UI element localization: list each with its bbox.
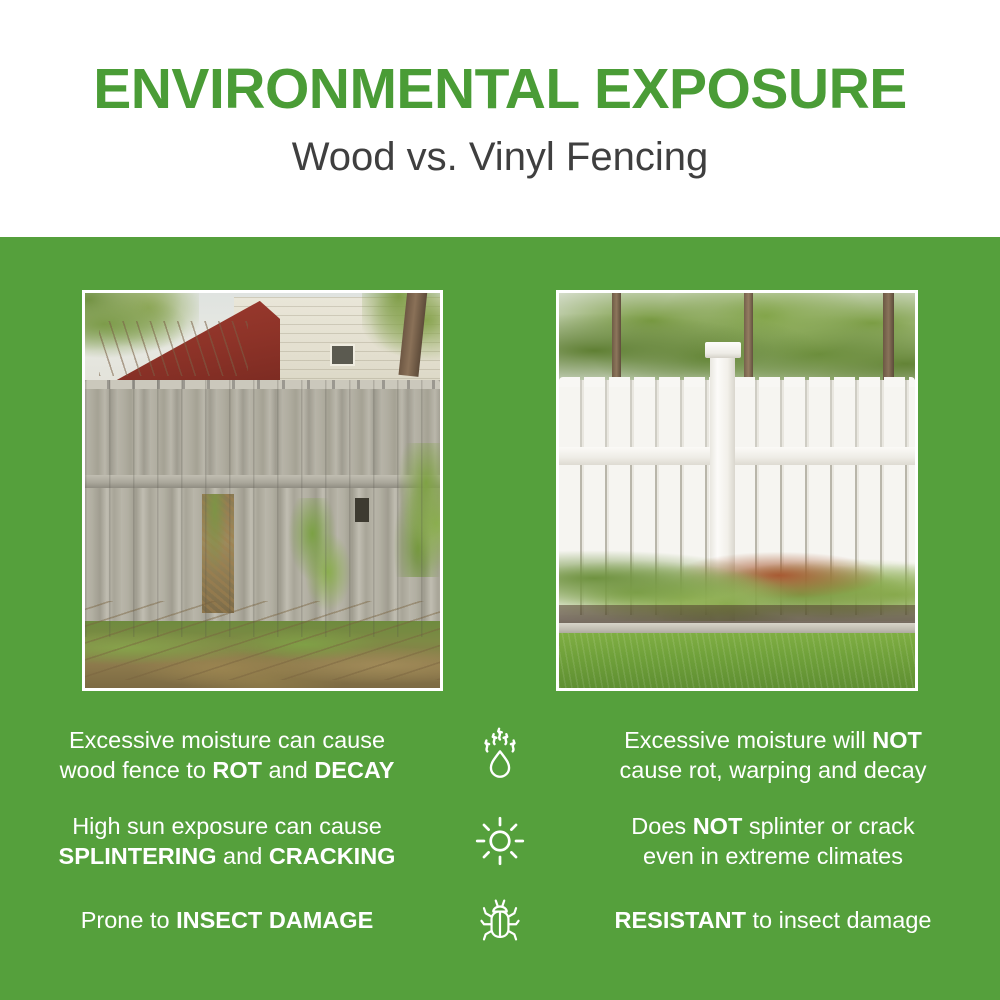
vinyl-sun-bold-not: NOT xyxy=(693,813,743,839)
bug-icon xyxy=(450,893,550,947)
vinyl-post-cap xyxy=(705,342,741,358)
tree-trunk-left xyxy=(612,293,621,388)
wood-grain-overlay xyxy=(85,380,440,637)
wood-sun-text: High sun exposure can cause SPLINTERING … xyxy=(20,811,450,871)
vinyl-moisture-line1-pre: Excessive moisture will xyxy=(624,727,872,753)
bare-branches xyxy=(99,321,248,376)
comparison-row-sun: High sun exposure can cause SPLINTERING … xyxy=(0,798,1000,884)
comparison-row-moisture: Excessive moisture can cause wood fence … xyxy=(0,712,1000,798)
moisture-drop-icon xyxy=(450,726,550,784)
wood-insect-pre: Prone to xyxy=(81,907,176,933)
vinyl-moisture-bold-not: NOT xyxy=(872,727,922,753)
vinyl-fence-photo xyxy=(559,293,915,688)
vinyl-sun-line1-post: splinter or crack xyxy=(742,813,914,839)
comparison-row-insects: Prone to INSECT DAMAGE RESISTANT t xyxy=(0,884,1000,956)
comparison-rows: Excessive moisture can cause wood fence … xyxy=(0,712,1000,956)
vinyl-insect-bold: RESISTANT xyxy=(615,907,746,933)
wood-moisture-line2-pre: wood fence to xyxy=(60,757,213,783)
page-subtitle: Wood vs. Vinyl Fencing xyxy=(292,120,709,180)
wood-sun-bold-cracking: CRACKING xyxy=(269,843,396,869)
wood-fence-photo xyxy=(85,293,440,688)
wood-moisture-bold-rot: ROT xyxy=(212,757,262,783)
wood-moisture-text: Excessive moisture can cause wood fence … xyxy=(20,725,450,785)
vinyl-insect-text: RESISTANT to insect damage xyxy=(550,905,980,935)
vinyl-insect-post: to insect damage xyxy=(746,907,932,933)
wood-insect-text: Prone to INSECT DAMAGE xyxy=(20,905,450,935)
vinyl-sun-line2: even in extreme climates xyxy=(643,843,903,869)
vinyl-pickets-upper xyxy=(559,380,915,451)
header: ENVIRONMENTAL EXPOSURE Wood vs. Vinyl Fe… xyxy=(0,0,1000,237)
tree-trunk-center xyxy=(744,293,753,380)
vinyl-moisture-text: Excessive moisture will NOT cause rot, w… xyxy=(550,725,980,785)
wood-sun-line1: High sun exposure can cause xyxy=(72,813,382,839)
infographic-root: ENVIRONMENTAL EXPOSURE Wood vs. Vinyl Fe… xyxy=(0,0,1000,1000)
vinyl-sun-line1-pre: Does xyxy=(631,813,692,839)
vinyl-fence-photo-frame xyxy=(556,290,918,691)
page-title: ENVIRONMENTAL EXPOSURE xyxy=(93,58,907,120)
vinyl-moisture-line2: cause rot, warping and decay xyxy=(620,757,927,783)
vinyl-sun-text: Does NOT splinter or crack even in extre… xyxy=(550,811,980,871)
vinyl-middle-rail xyxy=(559,447,915,465)
lawn-texture xyxy=(559,633,915,688)
wood-moisture-bold-decay: DECAY xyxy=(314,757,394,783)
wood-moisture-line2-mid: and xyxy=(262,757,314,783)
wood-insect-bold: INSECT DAMAGE xyxy=(176,907,373,933)
sun-icon xyxy=(450,814,550,868)
wood-sun-bold-splintering: SPLINTERING xyxy=(59,843,217,869)
wood-fence-photo-frame xyxy=(82,290,443,691)
wood-moisture-line1: Excessive moisture can cause xyxy=(69,727,385,753)
house-window xyxy=(330,344,355,366)
wood-sun-line2-mid: and xyxy=(217,843,269,869)
